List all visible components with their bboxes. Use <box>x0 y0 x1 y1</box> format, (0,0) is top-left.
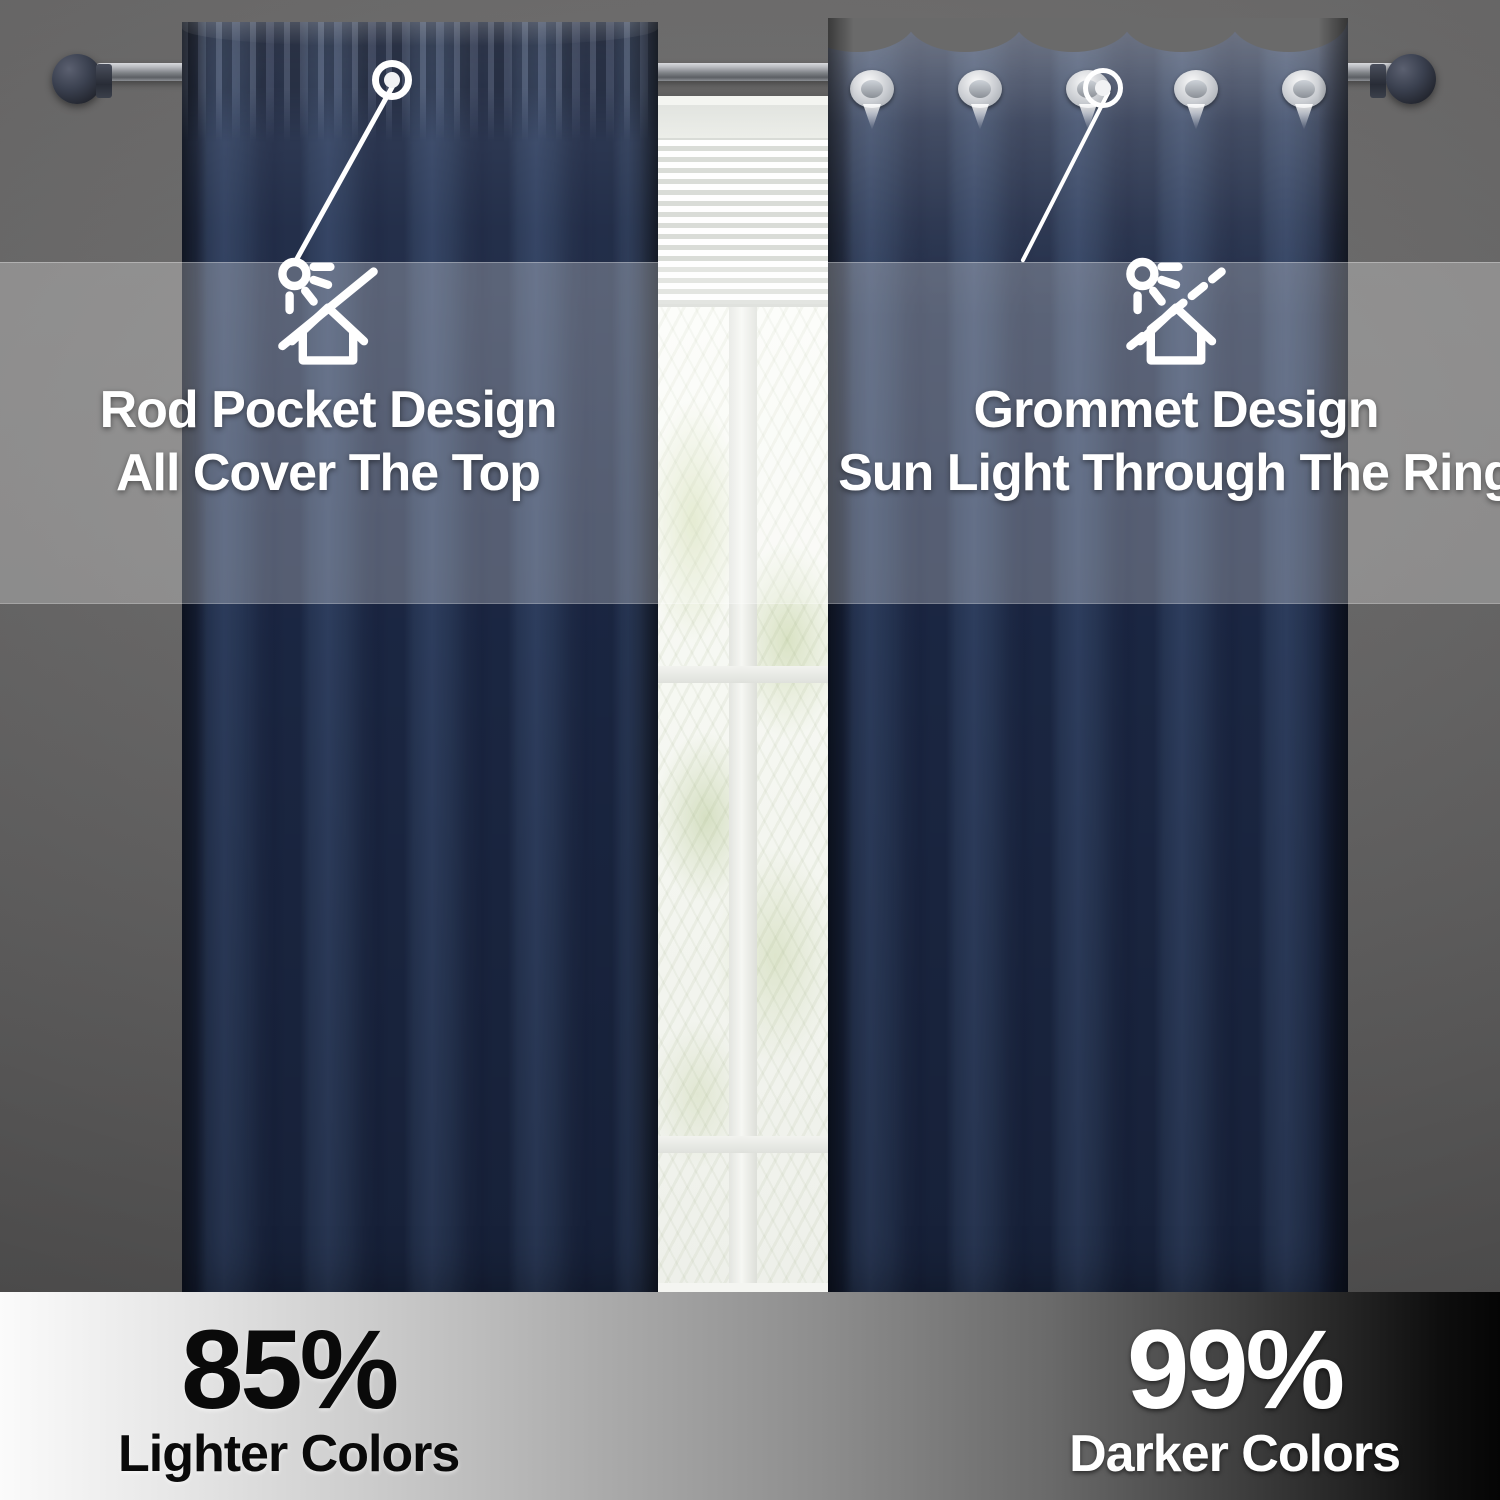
curtain-panel-grommet <box>828 18 1348 1292</box>
stat-percent: 85% <box>181 1318 396 1421</box>
feature-subtitle: All Cover The Top <box>116 447 540 500</box>
window-mullion-horizontal <box>640 1136 845 1153</box>
curtain-sheen <box>182 22 658 1292</box>
stat-banner: 85% Lighter Colors 99% Darker Colors <box>0 1292 1500 1500</box>
stat-label: Lighter Colors <box>118 1427 459 1482</box>
stat-percent: 99% <box>1127 1318 1342 1421</box>
grommet-row <box>828 18 1348 126</box>
sun-through-house-icon <box>1116 250 1236 370</box>
sun-blocked-house-icon <box>268 250 388 370</box>
curtain-edge-left <box>828 18 854 1292</box>
feature-grommet: Grommet Design Sun Light Through The Rin… <box>852 250 1500 580</box>
feature-rod-pocket: Rod Pocket Design All Cover The Top <box>58 250 598 580</box>
stat-darker-colors: 99% Darker Colors <box>750 1292 1500 1500</box>
stat-label: Darker Colors <box>1069 1427 1400 1482</box>
feature-subtitle: Sun Light Through The Ring <box>838 447 1500 500</box>
window-mullion-horizontal <box>640 666 845 683</box>
curtain-edge-right <box>1318 18 1348 1292</box>
curtain-panel-rod-pocket <box>182 22 658 1292</box>
blind-headrail <box>640 96 845 138</box>
feature-title: Rod Pocket Design <box>100 384 557 437</box>
feature-title: Grommet Design <box>974 384 1379 437</box>
curtain-edge-right <box>628 22 658 1292</box>
product-infographic: Rod Pocket Design All Cover The Top Grom… <box>0 0 1500 1500</box>
stat-lighter-colors: 85% Lighter Colors <box>0 1292 750 1500</box>
room-photo: Rod Pocket Design All Cover The Top Grom… <box>0 0 1500 1292</box>
curtain-sheen <box>828 18 1348 1292</box>
curtain-edge-left <box>182 22 208 1292</box>
